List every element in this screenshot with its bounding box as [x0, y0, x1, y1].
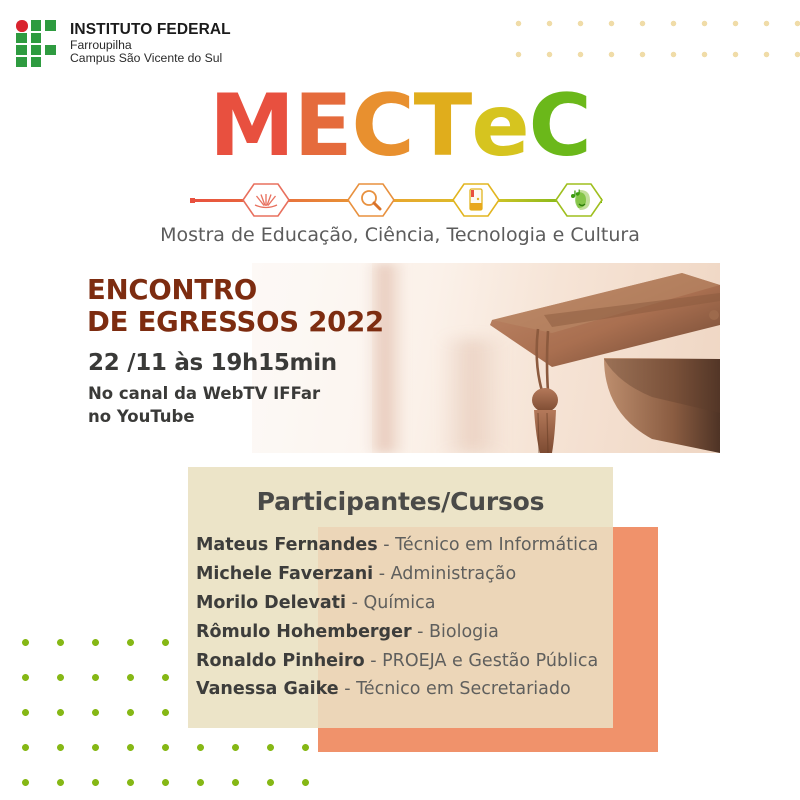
music-masks-icon	[553, 182, 605, 218]
open-book-icon	[240, 182, 292, 218]
participant-course: - PROEJA e Gestão Pública	[365, 651, 599, 671]
event-datetime: 22 /11 às 19h15min	[88, 350, 337, 376]
participant-row: Ronaldo Pinheiro - PROEJA e Gestão Públi…	[196, 647, 616, 676]
participant-course: - Administração	[373, 564, 516, 584]
wordmark-letter-0: M	[209, 83, 294, 169]
wordmark-letter-4: e	[471, 83, 528, 169]
participant-row: Mateus Fernandes - Técnico em Informátic…	[196, 531, 616, 560]
participant-name: Rômulo Hohemberger	[196, 622, 412, 642]
participant-name: Michele Faverzani	[196, 564, 373, 584]
event-channel: No canal da WebTV IFFar no YouTube	[88, 383, 320, 429]
instituto-federal-grid-logo-icon	[16, 20, 60, 66]
participant-row: Michele Faverzani - Administração	[196, 560, 616, 589]
participant-course: - Biologia	[412, 622, 499, 642]
brand-tagline: Mostra de Educação, Ciência, Tecnologia …	[0, 224, 800, 246]
participant-row: Rômulo Hohemberger - Biologia	[196, 618, 616, 647]
institution-subtitle-1: Farroupilha	[70, 39, 231, 52]
poster: INSTITUTO FEDERAL Farroupilha Campus São…	[0, 0, 800, 800]
wordmark-letter-2: C	[352, 83, 414, 169]
participant-name: Mateus Fernandes	[196, 535, 378, 555]
participant-row: Morilo Delevati - Química	[196, 589, 616, 618]
wordmark-letter-5: C	[529, 83, 591, 169]
beaker-icon	[450, 182, 502, 218]
event-heading: ENCONTRO DE EGRESSOS 2022	[87, 274, 384, 338]
participant-name: Ronaldo Pinheiro	[196, 651, 365, 671]
discipline-icon-strip	[190, 182, 602, 218]
magnifier-icon	[345, 182, 397, 218]
participant-name: Vanessa Gaike	[196, 679, 339, 699]
institution-subtitle-2: Campus São Vicente do Sul	[70, 52, 231, 65]
participant-row: Vanessa Gaike - Técnico em Secretariado	[196, 675, 616, 704]
participant-name: Morilo Delevati	[196, 593, 346, 613]
institution-logo-block: INSTITUTO FEDERAL Farroupilha Campus São…	[16, 20, 231, 66]
wordmark-letter-1: E	[294, 83, 352, 169]
participants-list: Mateus Fernandes - Técnico em Informátic…	[196, 531, 616, 704]
institution-title: INSTITUTO FEDERAL	[70, 22, 231, 38]
participant-course: - Técnico em Secretariado	[339, 679, 571, 699]
participant-course: - Química	[346, 593, 435, 613]
strip-left-cap	[190, 198, 195, 203]
participant-course: - Técnico em Informática	[378, 535, 599, 555]
participants-panel-title: Participantes/Cursos	[188, 487, 613, 516]
mectec-wordmark: MECTeC	[0, 83, 800, 169]
top-right-dot-grid	[500, 2, 800, 80]
wordmark-letter-3: T	[414, 83, 472, 169]
